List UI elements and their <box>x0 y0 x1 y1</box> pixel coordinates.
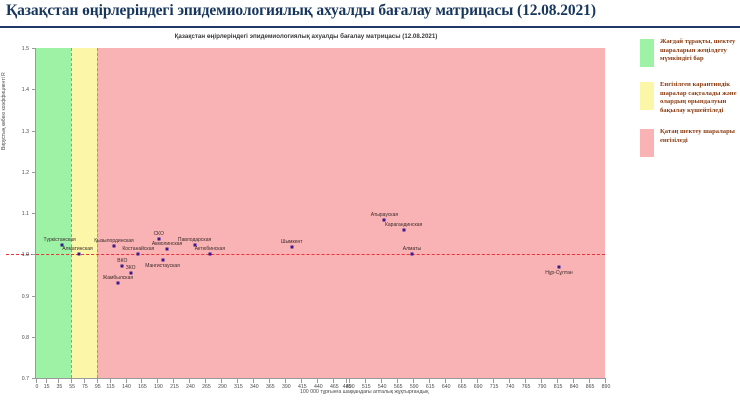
x-axis-tick: 140 <box>126 379 127 383</box>
x-axis-tick: 190 <box>157 379 158 383</box>
data-point-label: Шымкент <box>281 239 303 245</box>
zone-divider-yellow-red <box>97 48 98 378</box>
y-axis: 0.70.80.91.01.11.21.31.41.5 <box>35 48 36 378</box>
x-axis-tick: 440 <box>317 379 318 383</box>
x-axis-tick: 565 <box>397 379 398 383</box>
x-axis-tick-label: 765 <box>522 384 531 390</box>
y-axis-tick: 1.0 <box>32 254 36 255</box>
x-axis-tick: 265 <box>205 379 206 383</box>
data-point-label: Атырауская <box>371 212 398 218</box>
y-axis-tick-label: 1.0 <box>22 252 29 258</box>
x-axis-tick-label: 290 <box>218 384 227 390</box>
x-axis-tick-label: 215 <box>170 384 179 390</box>
zone-band-yellow <box>71 48 97 378</box>
data-point[interactable] <box>112 245 115 248</box>
x-axis-tick: 640 <box>445 379 446 383</box>
data-point[interactable] <box>121 264 124 267</box>
data-point-label: Алматинская <box>62 246 93 252</box>
data-point[interactable] <box>208 253 211 256</box>
x-axis-tick-label: 190 <box>154 384 163 390</box>
x-axis-tick-label: 140 <box>122 384 131 390</box>
legend-item-label: Енгізілген карантиндік шаралар сақталады… <box>660 81 740 115</box>
y-axis-tick-label: 1.2 <box>22 170 29 176</box>
x-axis-tick-label: 790 <box>538 384 547 390</box>
page-header: Қазақстан өңірлеріндегі эпидемиологиялық… <box>0 0 740 28</box>
x-axis-tick: 715 <box>493 379 494 383</box>
legend-item-label: Қатаң шектеу шаралары енгізіледі <box>660 128 740 145</box>
x-axis-tick: 540 <box>381 379 382 383</box>
y-axis-tick: 0.9 <box>32 296 36 297</box>
x-axis-tick: 240 <box>189 379 190 383</box>
y-axis-tick: 0.8 <box>32 337 36 338</box>
x-axis-tick: 390 <box>285 379 286 383</box>
data-point-label: Карагандинская <box>385 222 422 228</box>
threshold-line-r1 <box>6 254 605 255</box>
x-axis-title: 100 000 тұрғынға шаққандағы апталық жұқт… <box>300 389 428 395</box>
x-axis-tick: 95 <box>97 379 98 383</box>
x-axis-tick: 290 <box>221 379 222 383</box>
x-axis-tick: 215 <box>173 379 174 383</box>
data-point[interactable] <box>116 282 119 285</box>
legend-color-swatch <box>640 39 654 67</box>
data-point-label: Түркістанская <box>43 237 75 243</box>
y-axis-tick: 1.1 <box>32 213 36 214</box>
y-axis-tick-label: 1.4 <box>22 87 29 93</box>
x-axis-tick-label: 365 <box>266 384 275 390</box>
x-axis-tick: 75 <box>84 379 85 383</box>
y-axis-tick-label: 0.9 <box>22 294 29 300</box>
data-point-label: Жамбылская <box>103 275 134 281</box>
data-point-label: Павлодарская <box>178 237 211 243</box>
x-axis-tick: 515 <box>365 379 366 383</box>
legend-item: Қатаң шектеу шаралары енгізіледі <box>640 128 740 158</box>
x-axis-tick-label: 115 <box>106 384 114 390</box>
y-axis-title: Вирустың көбею коэффициенті R <box>1 72 7 150</box>
x-axis-tick: 485 <box>346 379 347 383</box>
x-axis-tick: 35 <box>58 379 59 383</box>
x-axis-tick: 740 <box>509 379 510 383</box>
x-axis-tick: 590 <box>413 379 414 383</box>
x-axis-tick: 365 <box>269 379 270 383</box>
data-point[interactable] <box>166 248 169 251</box>
chart-title: Қазақстан өңірлеріндегі эпидемиологиялық… <box>0 33 612 40</box>
x-axis-tick-label: 740 <box>506 384 515 390</box>
x-axis-tick-label: 265 <box>202 384 211 390</box>
x-axis-tick-label: 15 <box>44 384 50 390</box>
data-point[interactable] <box>557 266 560 269</box>
zone-divider-green-yellow <box>71 48 72 378</box>
x-axis-tick-label: 890 <box>602 384 611 390</box>
x-axis-tick: 690 <box>477 379 478 383</box>
x-axis-tick: 815 <box>557 379 558 383</box>
data-point-label: СКО <box>154 231 164 237</box>
x-axis-tick-label: 35 <box>56 384 62 390</box>
y-axis-tick-label: 1.5 <box>22 46 29 52</box>
x-axis: 0153555759511514016519021524026529031534… <box>36 378 606 379</box>
data-point[interactable] <box>161 259 164 262</box>
x-axis-tick-label: 715 <box>490 384 499 390</box>
data-point-label: ВКО <box>117 258 127 264</box>
x-axis-tick: 55 <box>71 379 72 383</box>
data-point-label: Қызылординская <box>94 238 134 244</box>
x-axis-tick-label: 665 <box>458 384 467 390</box>
x-axis-tick: 890 <box>605 379 606 383</box>
legend-item: Жағдай тұрақты, шектеу шараларын жеңілде… <box>640 38 740 68</box>
data-point-label: ЗКО <box>126 265 136 271</box>
y-axis-tick: 1.2 <box>32 172 36 173</box>
x-axis-tick: 0 <box>36 379 37 383</box>
x-axis-tick-label: 0 <box>36 384 39 390</box>
x-axis-tick-label: 840 <box>570 384 579 390</box>
x-axis-tick-label: 165 <box>138 384 147 390</box>
data-point[interactable] <box>402 229 405 232</box>
zone-band-green <box>36 48 71 378</box>
zone-band-red <box>97 48 605 378</box>
legend-color-swatch <box>640 82 654 110</box>
y-axis-tick-label: 0.7 <box>22 376 29 382</box>
x-axis-tick: 415 <box>301 379 302 383</box>
x-axis-tick: 840 <box>573 379 574 383</box>
data-point[interactable] <box>137 253 140 256</box>
y-axis-tick-label: 1.1 <box>22 211 29 217</box>
legend-color-swatch <box>640 129 654 157</box>
x-axis-tick-label: 690 <box>474 384 483 390</box>
data-point[interactable] <box>78 253 81 256</box>
x-axis-tick-label: 815 <box>554 384 563 390</box>
x-axis-tick-label: 240 <box>186 384 195 390</box>
x-axis-tick-label: 95 <box>95 384 101 390</box>
y-axis-tick: 1.3 <box>32 131 36 132</box>
data-point-label: Костанайская <box>122 246 154 252</box>
x-axis-tick: 615 <box>429 379 430 383</box>
x-axis-tick: 115 <box>110 379 111 383</box>
x-axis-tick-label: 640 <box>442 384 451 390</box>
x-axis-tick: 665 <box>461 379 462 383</box>
x-axis-tick: 315 <box>237 379 238 383</box>
y-axis-tick-label: 1.3 <box>22 129 29 135</box>
data-point[interactable] <box>157 237 160 240</box>
x-axis-tick-label: 340 <box>250 384 259 390</box>
legend-item-label: Жағдай тұрақты, шектеу шараларын жеңілде… <box>660 38 740 64</box>
x-axis-tick: 765 <box>525 379 526 383</box>
x-axis-tick-label: 390 <box>282 384 291 390</box>
data-point[interactable] <box>129 271 132 274</box>
data-point-label: Актюбинская <box>195 246 225 252</box>
plot-area: ТүркістанскаяАлматинскаяҚызылординскаяКо… <box>36 48 605 378</box>
x-axis-tick: 15 <box>46 379 47 383</box>
legend: Жағдай тұрақты, шектеу шараларын жеңілде… <box>640 38 740 171</box>
y-axis-tick-label: 0.8 <box>22 335 29 341</box>
data-point-label: Алматы <box>403 246 421 252</box>
x-axis-tick-label: 55 <box>69 384 75 390</box>
y-axis-tick: 1.4 <box>32 89 36 90</box>
x-axis-tick-label: 315 <box>234 384 243 390</box>
legend-item: Енгізілген карантиндік шаралар сақталады… <box>640 81 740 115</box>
data-point-label: Мангистауская <box>145 263 180 269</box>
x-axis-tick: 165 <box>141 379 142 383</box>
y-axis-tick: 1.5 <box>32 48 36 49</box>
x-axis-tick-label: 865 <box>586 384 595 390</box>
data-point[interactable] <box>290 245 293 248</box>
data-point[interactable] <box>410 253 413 256</box>
x-axis-tick: 490 <box>349 379 350 383</box>
x-axis-tick: 865 <box>589 379 590 383</box>
x-axis-tick: 790 <box>541 379 542 383</box>
page-title: Қазақстан өңірлеріндегі эпидемиологиялық… <box>6 2 734 20</box>
data-point-label: Нұр-Сұлтан <box>545 270 572 276</box>
x-axis-tick-label: 75 <box>82 384 88 390</box>
x-axis-tick: 340 <box>253 379 254 383</box>
x-axis-tick: 465 <box>333 379 334 383</box>
